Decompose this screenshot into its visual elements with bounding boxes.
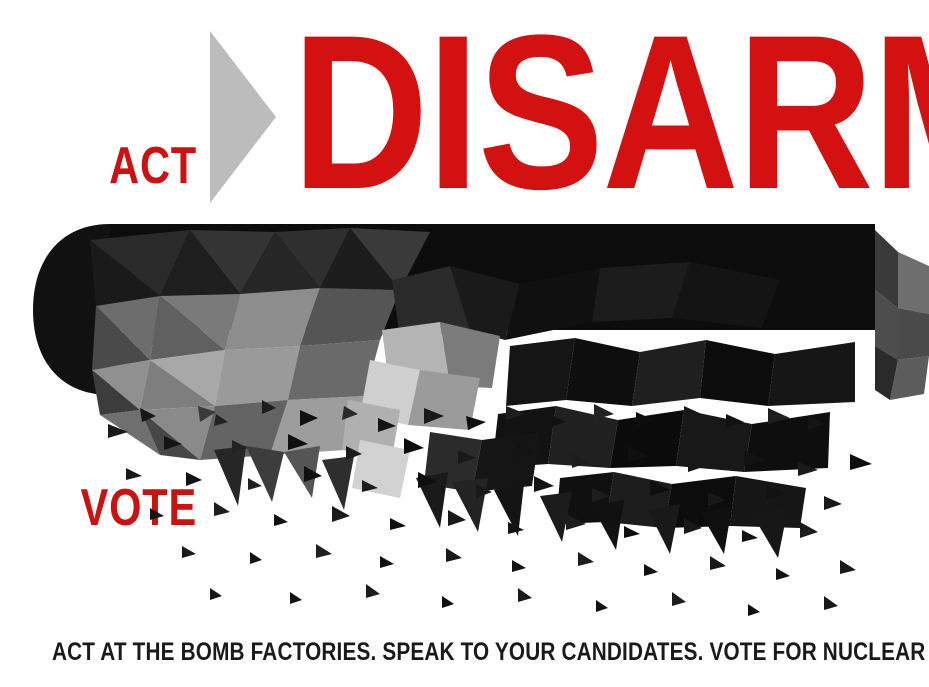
bomb-body-group bbox=[33, 224, 929, 558]
bomb-svg bbox=[0, 210, 929, 630]
tagline-text: ACT AT THE BOMB FACTORIES. SPEAK TO YOUR… bbox=[52, 638, 929, 666]
bomb-illustration bbox=[0, 210, 929, 630]
poster-canvas: ACT SPEAK VOTE DISARM! bbox=[0, 0, 929, 687]
headline-disarm: DISARM! bbox=[292, 12, 929, 212]
kicker-line-act: ACT bbox=[39, 138, 197, 195]
poster-header: ACT SPEAK VOTE DISARM! bbox=[0, 0, 929, 215]
arrow-right-icon bbox=[210, 31, 276, 203]
